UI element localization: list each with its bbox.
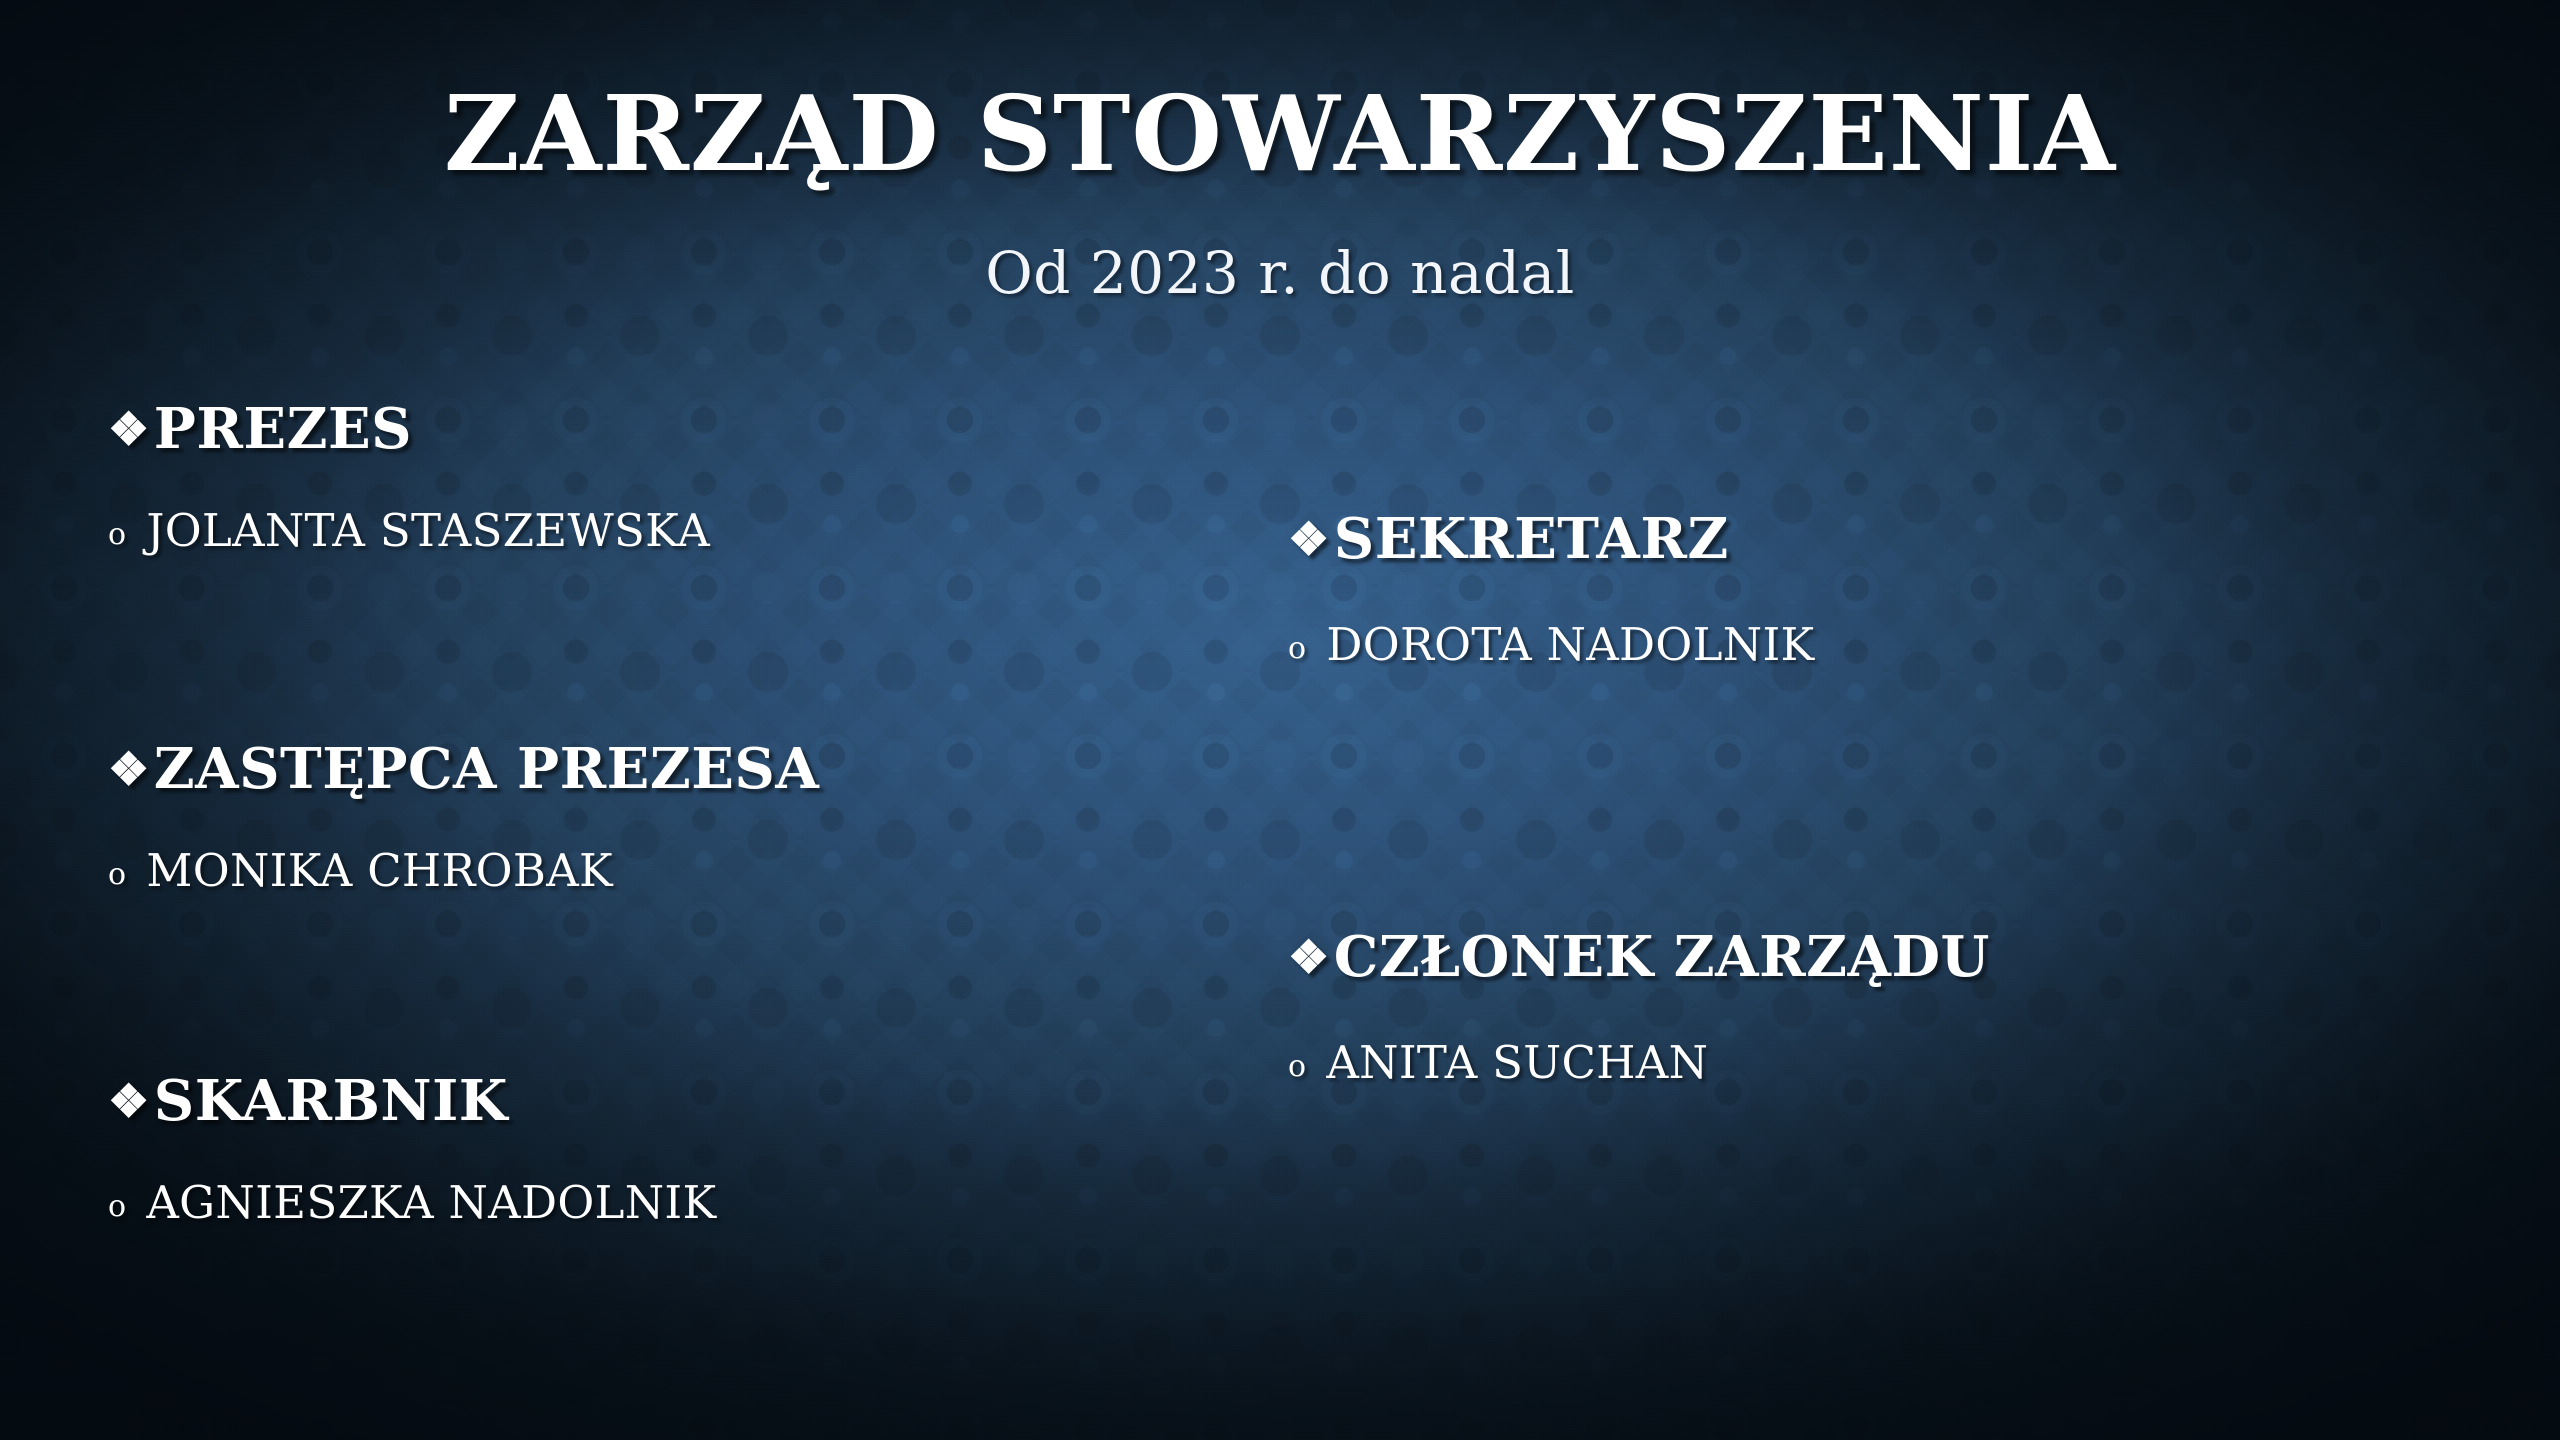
person-item-jolanta-staszewska: o JOLANTA STASZEWSKA (108, 507, 710, 554)
circle-bullet-icon: o (108, 860, 126, 890)
person-name: DOROTA NADOLNIK (1326, 621, 1814, 668)
role-heading-sekretarz: ❖ SEKRETARZ (1288, 510, 1814, 569)
diamond-bullet-icon: ❖ (1288, 516, 1330, 562)
role-group-sekretarz: ❖ SEKRETARZ o DOROTA NADOLNIK (1288, 510, 1814, 668)
role-group-skarbnik: ❖ SKARBNIK o AGNIESZKA NADOLNIK (108, 1072, 716, 1226)
slide-content: ZARZĄD STOWARZYSZENIA Od 2023 r. do nada… (0, 0, 2560, 1440)
person-item-dorota-nadolnik: o DOROTA NADOLNIK (1288, 621, 1814, 668)
diamond-bullet-icon: ❖ (108, 746, 150, 792)
person-item-monika-chrobak: o MONIKA CHROBAK (108, 847, 819, 894)
role-heading-label: ZASTĘPCA PREZESA (154, 740, 820, 799)
person-item-agnieszka-nadolnik: o AGNIESZKA NADOLNIK (108, 1179, 716, 1226)
person-name: ANITA SUCHAN (1326, 1039, 1708, 1086)
role-heading-label: SKARBNIK (154, 1072, 508, 1131)
role-heading-label: CZŁONEK ZARZĄDU (1334, 928, 1990, 987)
circle-bullet-icon: o (1288, 1052, 1306, 1082)
diamond-bullet-icon: ❖ (108, 1078, 150, 1124)
slide-title: ZARZĄD STOWARZYSZENIA (0, 78, 2560, 190)
presentation-slide: ZARZĄD STOWARZYSZENIA Od 2023 r. do nada… (0, 0, 2560, 1440)
circle-bullet-icon: o (108, 1192, 126, 1222)
person-name: JOLANTA STASZEWSKA (146, 507, 710, 554)
role-heading-skarbnik: ❖ SKARBNIK (108, 1072, 716, 1131)
role-heading-czlonek-zarzadu: ❖ CZŁONEK ZARZĄDU (1288, 928, 1990, 987)
circle-bullet-icon: o (108, 520, 126, 550)
role-heading-prezes: ❖ PREZES (108, 400, 710, 459)
role-heading-label: SEKRETARZ (1334, 510, 1729, 569)
person-name: MONIKA CHROBAK (146, 847, 613, 894)
role-heading-zastepca-prezesa: ❖ ZASTĘPCA PREZESA (108, 740, 819, 799)
role-heading-label: PREZES (154, 400, 412, 459)
role-group-zastepca-prezesa: ❖ ZASTĘPCA PREZESA o MONIKA CHROBAK (108, 740, 819, 894)
diamond-bullet-icon: ❖ (108, 406, 150, 452)
diamond-bullet-icon: ❖ (1288, 934, 1330, 980)
person-name: AGNIESZKA NADOLNIK (146, 1179, 716, 1226)
role-group-prezes: ❖ PREZES o JOLANTA STASZEWSKA (108, 400, 710, 554)
slide-subtitle: Od 2023 r. do nadal (0, 242, 2560, 306)
person-item-anita-suchan: o ANITA SUCHAN (1288, 1039, 1990, 1086)
role-group-czlonek-zarzadu: ❖ CZŁONEK ZARZĄDU o ANITA SUCHAN (1288, 928, 1990, 1086)
circle-bullet-icon: o (1288, 634, 1306, 664)
